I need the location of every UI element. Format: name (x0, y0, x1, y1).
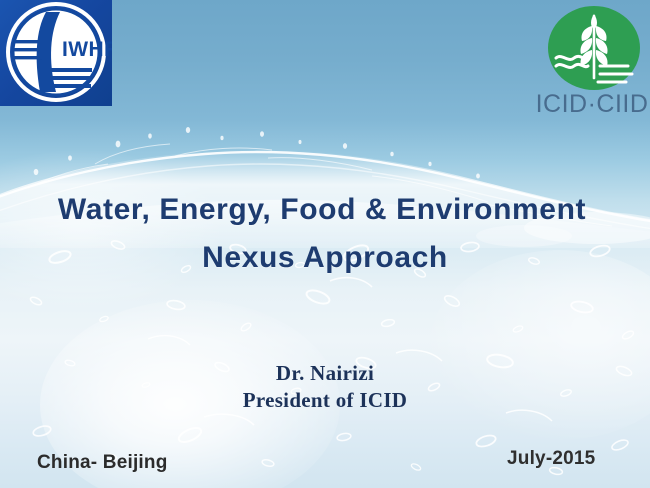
slide-title-line-1: Water, Energy, Food & Environment (0, 186, 650, 234)
presenter-block: Dr. Nairizi President of ICID (0, 360, 650, 414)
slide-title: Water, Energy, Food & Environment Nexus … (0, 186, 650, 282)
iwhr-logo-text: IWHR (62, 38, 112, 61)
slide-title-line-2: Nexus Approach (0, 234, 650, 282)
footer-location: China- Beijing (37, 452, 168, 474)
presenter-name: Dr. Nairizi (0, 360, 650, 387)
iwhr-logo: IWHR (0, 0, 112, 106)
presenter-role: President of ICID (0, 387, 650, 414)
presentation-title-slide: IWHR (0, 0, 650, 488)
icid-logo: ICID·CIID (540, 4, 648, 126)
icid-wordmark: ICID·CIID (534, 92, 650, 117)
footer-date: July-2015 (507, 448, 595, 470)
